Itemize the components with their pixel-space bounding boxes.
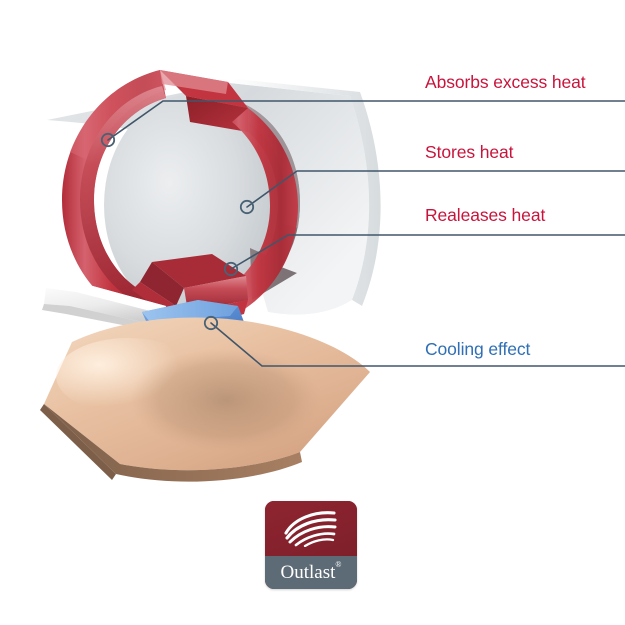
logo-brand-text: Outlast: [281, 562, 336, 583]
label-stores-heat: Stores heat: [425, 144, 513, 162]
label-cooling-effect: Cooling effect: [425, 341, 530, 359]
logo-registered-mark: ®: [335, 560, 341, 569]
logo-wordmark: Outlast®: [265, 563, 357, 582]
label-absorbs-excess-heat: Absorbs excess heat: [425, 74, 586, 92]
logo-card: Outlast®: [265, 501, 357, 589]
label-releases-heat: Realeases heat: [425, 207, 545, 225]
outlast-swoosh-icon: [280, 507, 342, 547]
outlast-logo: Outlast®: [265, 501, 357, 589]
skin-surface: [40, 318, 370, 482]
